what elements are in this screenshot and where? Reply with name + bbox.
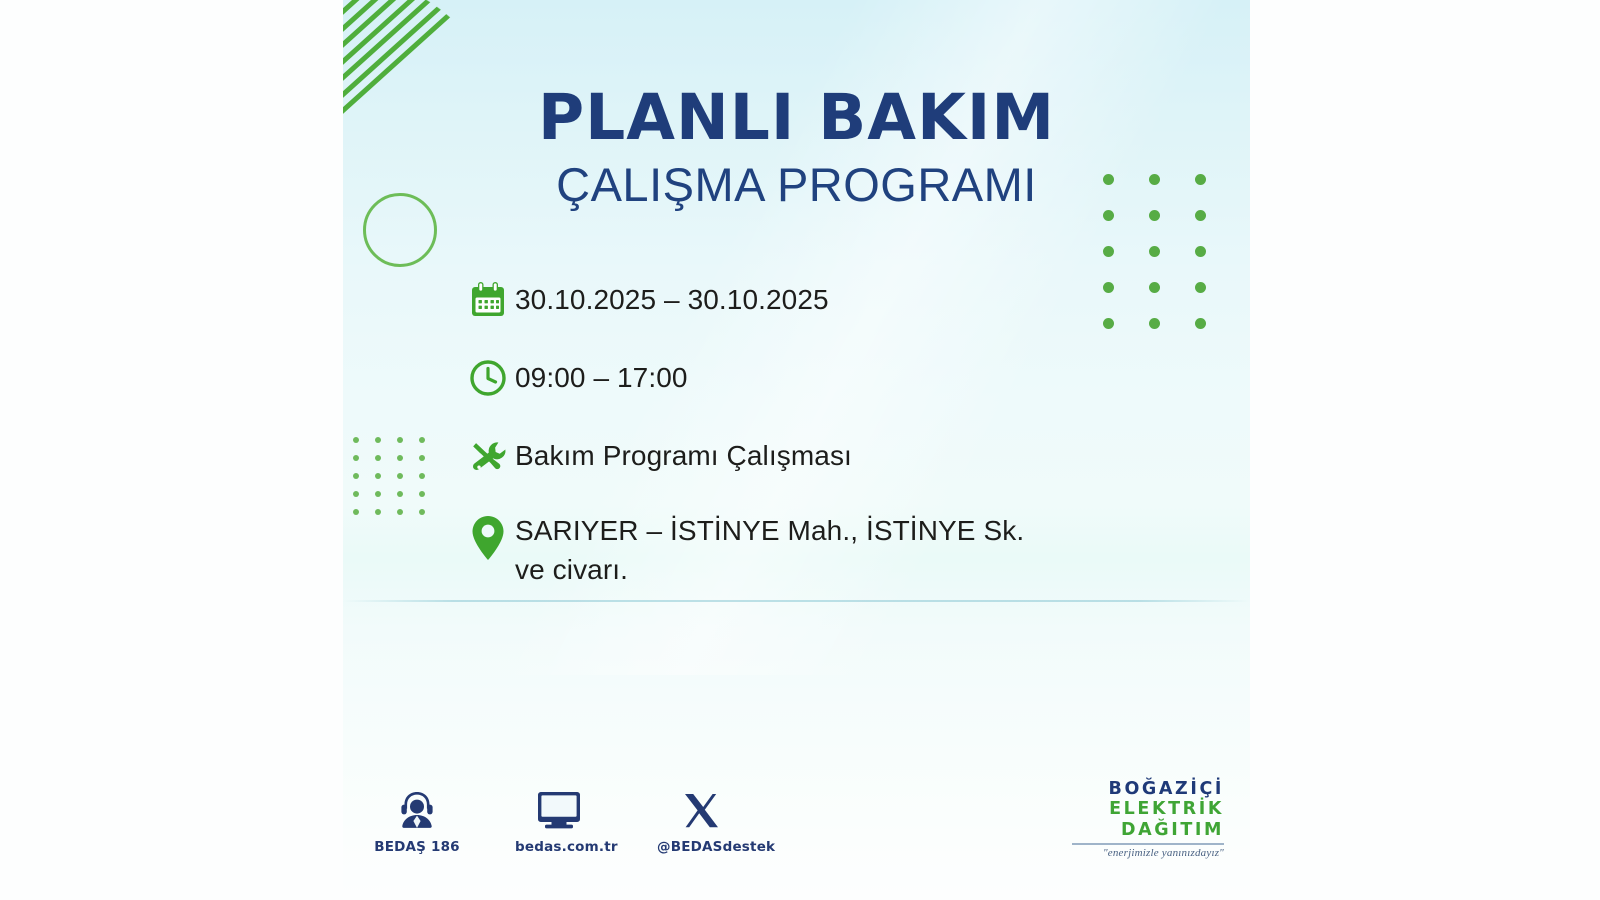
poster-canvas: PLANLI BAKIM ÇALIŞMA PROGRAMI [0,0,1600,900]
detail-row-date: 30.10.2025 – 30.10.2025 [461,273,1181,327]
brand-tagline: "enerjimizle yanınızdayız" [1049,847,1224,859]
clock-icon [461,351,515,405]
dot-grid-left-decoration [353,437,441,527]
right-gutter [1250,0,1600,900]
brand-logo: BOĞAZİÇİ ELEKTRİK DAĞITIM "enerjimizle y… [1049,779,1224,859]
detail-date-text: 30.10.2025 – 30.10.2025 [515,273,829,320]
detail-time-text: 09:00 – 17:00 [515,351,688,398]
detail-worktype-text: Bakım Programı Çalışması [515,429,852,476]
poster-heading: PLANLI BAKIM ÇALIŞMA PROGRAMI [343,86,1250,210]
left-gutter [0,0,343,900]
contact-website[interactable]: bedas.com.tr [515,784,603,855]
brand-line-dagitim: DAĞITIM [1049,820,1224,840]
calendar-icon [461,273,515,327]
contact-phone-label: BEDAŞ 186 [373,839,461,855]
section-divider [343,600,1250,602]
brand-line-bogazici: BOĞAZİÇİ [1049,779,1224,799]
contact-social-label: @BEDASdestek [657,839,745,855]
page-subtitle: ÇALIŞMA PROGRAMI [343,160,1250,209]
detail-row-worktype: Bakım Programı Çalışması [461,429,1181,483]
poster-panel: PLANLI BAKIM ÇALIŞMA PROGRAMI [343,0,1250,900]
contact-website-label: bedas.com.tr [515,839,603,855]
detail-row-time: 09:00 – 17:00 [461,351,1181,405]
page-title: PLANLI BAKIM [343,86,1250,150]
contact-phone[interactable]: BEDAŞ 186 [373,784,461,855]
detail-list: 30.10.2025 – 30.10.2025 09:00 – 17:00 [461,273,1181,589]
headset-support-icon [373,784,461,832]
location-pin-icon [461,507,515,569]
detail-location-line1: SARIYER – İSTİNYE Mah., İSTİNYE Sk. [515,512,1024,551]
tools-icon [461,429,515,483]
detail-location-line2: ve civarı. [515,551,1024,590]
contact-strip: BEDAŞ 186 bedas.com.tr [373,784,745,855]
x-twitter-icon [657,784,745,832]
monitor-icon [515,784,603,832]
contact-social[interactable]: @BEDASdestek [657,784,745,855]
detail-row-location: SARIYER – İSTİNYE Mah., İSTİNYE Sk. ve c… [461,507,1181,589]
detail-location-text: SARIYER – İSTİNYE Mah., İSTİNYE Sk. ve c… [515,507,1024,589]
brand-line-elektrik: ELEKTRİK [1049,799,1224,819]
brand-divider [1072,843,1224,845]
